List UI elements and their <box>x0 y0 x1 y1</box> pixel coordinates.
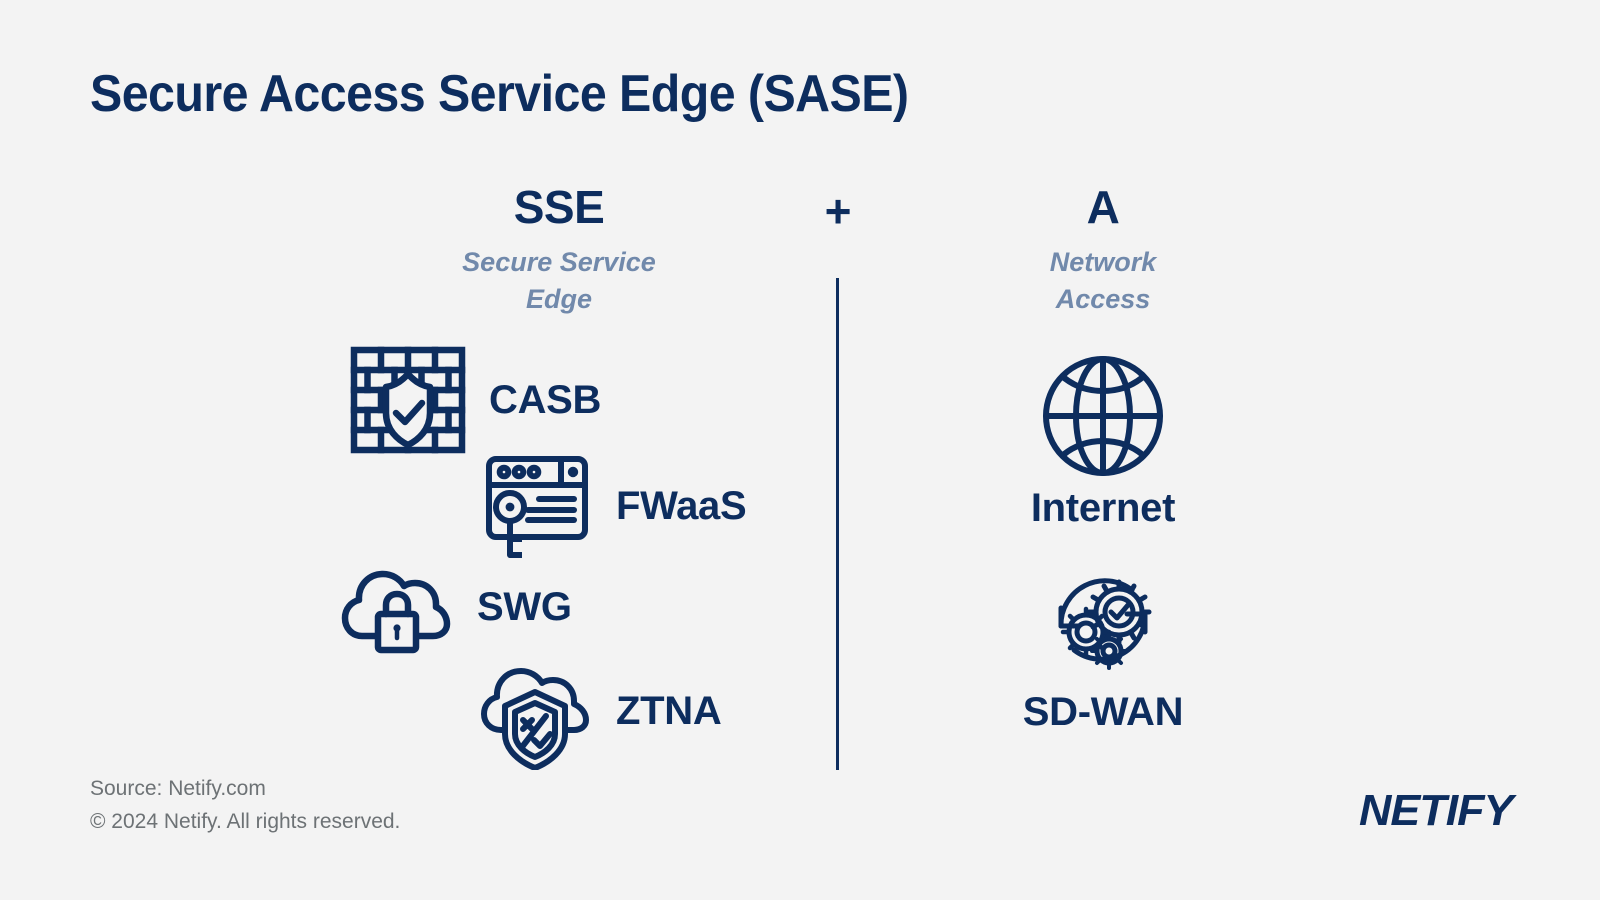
sse-item-label-fwaas: FWaaS <box>616 484 746 529</box>
sse-subtitle-line2: Edge <box>409 281 709 318</box>
access-abbreviation: A <box>953 184 1253 230</box>
gears-refresh-check-icon <box>1039 556 1167 684</box>
column-header-access: A Network Access <box>953 184 1253 317</box>
access-item-label-sdwan: SD-WAN <box>953 690 1253 735</box>
cloud-shield-check-cross-icon <box>476 652 594 770</box>
source-text: Source: Netify.com <box>90 773 400 806</box>
sse-item-label-swg: SWG <box>477 585 572 630</box>
plus-operator: + <box>810 188 866 234</box>
page-title: Secure Access Service Edge (SASE) <box>90 64 908 124</box>
globe-icon <box>1039 352 1167 480</box>
sse-item-label-ztna: ZTNA <box>616 689 721 734</box>
sse-subtitle-line1: Secure Service <box>409 244 709 281</box>
copyright-text: © 2024 Netify. All rights reserved. <box>90 806 400 839</box>
sse-item-swg: SWG <box>337 548 572 666</box>
sse-abbreviation: SSE <box>409 184 709 230</box>
access-subtitle: Network Access <box>953 244 1253 317</box>
access-subtitle-line1: Network <box>953 244 1253 281</box>
vertical-divider <box>836 278 839 770</box>
column-header-sse: SSE Secure Service Edge <box>409 184 709 317</box>
sse-item-ztna: ZTNA <box>476 652 721 770</box>
sse-subtitle: Secure Service Edge <box>409 244 709 317</box>
footer: Source: Netify.com © 2024 Netify. All ri… <box>90 773 400 839</box>
access-item-internet: Internet <box>953 352 1253 531</box>
access-item-sdwan: SD-WAN <box>953 556 1253 735</box>
netify-logo: NETIFY <box>1359 786 1512 836</box>
sse-item-casb: CASB <box>349 341 601 459</box>
access-subtitle-line2: Access <box>953 281 1253 318</box>
access-item-label-internet: Internet <box>953 486 1253 531</box>
brick-wall-shield-check-icon <box>349 341 467 459</box>
cloud-padlock-icon <box>337 548 455 666</box>
sse-item-label-casb: CASB <box>489 378 601 423</box>
